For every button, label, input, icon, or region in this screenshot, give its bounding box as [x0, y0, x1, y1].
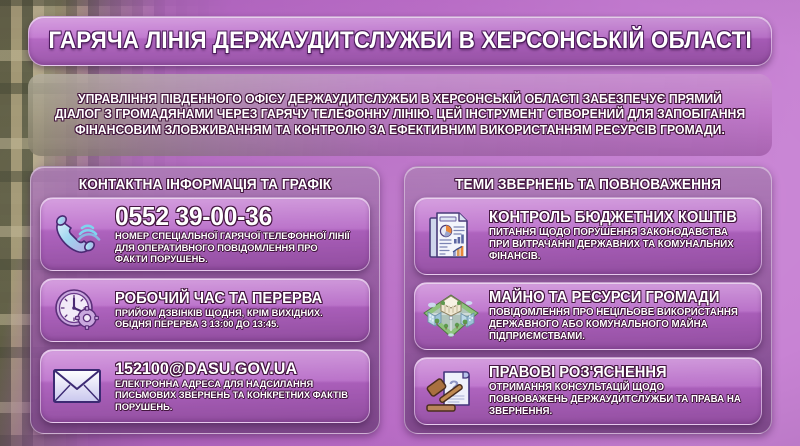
budget-control-title: КОНТРОЛЬ БЮДЖЕТНИХ КОШТІВ [489, 209, 738, 226]
hotline-number-body: 0552 39-00-36 НОМЕР СПЕЦІАЛЬНОЇ ГАРЯЧОЇ … [115, 202, 359, 265]
isometric-city-icon [422, 290, 480, 342]
intro-paragraph: УПРАВЛІННЯ ПІВДЕННОГО ОФІСУ ДЕРЖАУДИТСЛУ… [55, 92, 746, 139]
email-address-body: 152100@DASU.GOV.UA ЕЛЕКТРОННА АДРЕСА ДЛЯ… [115, 359, 359, 413]
legal-clarification-title: ПРАВОВІ РОЗ'ЯСНЕННЯ [489, 364, 738, 381]
hotline-number-desc: НОМЕР СПЕЦІАЛЬНОЇ ГАРЯЧОЇ ТЕЛЕФОННОЇ ЛІН… [115, 231, 352, 265]
appeal-topics-panel: ТЕМИ ЗВЕРНЕНЬ ТА ПОВНОВАЖЕННЯ [404, 166, 772, 434]
legal-clarification-desc: ОТРИМАННЯ КОНСУЛЬТАЦІЙ ЩОДО ПОВНОВАЖЕНЬ … [489, 382, 743, 417]
budget-control-body: КОНТРОЛЬ БЮДЖЕТНИХ КОШТІВ ПИТАННЯ ЩОДО П… [489, 209, 751, 262]
infographic-root: ГАРЯЧА ЛІНІЯ ДЕРЖАУДИТСЛУЖБИ В ХЕРСОНСЬК… [0, 0, 800, 446]
email-address-card[interactable]: 152100@DASU.GOV.UA ЕЛЕКТРОННА АДРЕСА ДЛЯ… [40, 349, 370, 423]
appeal-topics-heading: ТЕМИ ЗВЕРНЕНЬ ТА ПОВНОВАЖЕННЯ [423, 173, 754, 197]
envelope-icon [48, 360, 106, 412]
legal-clarification-card[interactable]: ? ПРАВОВІ РОЗ'ЯСНЕННЯ [414, 357, 762, 425]
community-property-card[interactable]: МАЙНО ТА РЕСУРСИ ГРОМАДИ ПОВІДОМЛЕННЯ ПР… [414, 282, 762, 350]
community-property-desc: ПОВІДОМЛЕННЯ ПРО НЕЦІЛЬОВЕ ВИКОРИСТАННЯ … [489, 307, 743, 342]
page-title-banner: ГАРЯЧА ЛІНІЯ ДЕРЖАУДИТСЛУЖБИ В ХЕРСОНСЬК… [28, 16, 772, 66]
community-property-body: МАЙНО ТА РЕСУРСИ ГРОМАДИ ПОВІДОМЛЕННЯ ПР… [489, 289, 751, 342]
contact-info-panel: КОНТАКТНА ІНФОРМАЦІЯ ТА ГРАФІК [30, 166, 380, 434]
email-address-desc: ЕЛЕКТРОННА АДРЕСА ДЛЯ НАДСИЛАННЯ ПИСЬМОВ… [115, 379, 352, 413]
working-hours-card[interactable]: РОБОЧИЙ ЧАС ТА ПЕРЕРВА ПРИЙОМ ДЗВІНКІВ Щ… [40, 278, 370, 342]
community-property-title: МАЙНО ТА РЕСУРСИ ГРОМАДИ [489, 289, 738, 306]
page-title: ГАРЯЧА ЛІНІЯ ДЕРЖАУДИТСЛУЖБИ В ХЕРСОНСЬК… [48, 27, 751, 55]
hotline-number-card[interactable]: 0552 39-00-36 НОМЕР СПЕЦІАЛЬНОЇ ГАРЯЧОЇ … [40, 197, 370, 271]
email-address-title: 152100@DASU.GOV.UA [115, 359, 347, 378]
report-chart-document-icon [422, 210, 480, 262]
hotline-number-title: 0552 39-00-36 [115, 202, 347, 230]
phone-ringing-icon [48, 208, 106, 260]
working-hours-body: РОБОЧИЙ ЧАС ТА ПЕРЕРВА ПРИЙОМ ДЗВІНКІВ Щ… [115, 290, 359, 331]
legal-clarification-body: ПРАВОВІ РОЗ'ЯСНЕННЯ ОТРИМАННЯ КОНСУЛЬТАЦ… [489, 364, 751, 417]
working-hours-title: РОБОЧИЙ ЧАС ТА ПЕРЕРВА [115, 290, 347, 307]
contact-info-heading: КОНТАКТНА ІНФОРМАЦІЯ ТА ГРАФІК [48, 173, 362, 197]
budget-control-card[interactable]: КОНТРОЛЬ БЮДЖЕТНИХ КОШТІВ ПИТАННЯ ЩОДО П… [414, 197, 762, 275]
gavel-scroll-question-icon: ? [422, 365, 480, 417]
budget-control-desc: ПИТАННЯ ЩОДО ПОРУШЕННЯ ЗАКОНОДАВСТВА ПРИ… [489, 227, 743, 262]
clock-gear-icon [48, 284, 106, 336]
working-hours-desc: ПРИЙОМ ДЗВІНКІВ ЩОДНЯ, КРІМ ВИХІДНИХ. ОБ… [115, 308, 352, 331]
intro-panel: УПРАВЛІННЯ ПІВДЕННОГО ОФІСУ ДЕРЖАУДИТСЛУ… [28, 74, 772, 156]
